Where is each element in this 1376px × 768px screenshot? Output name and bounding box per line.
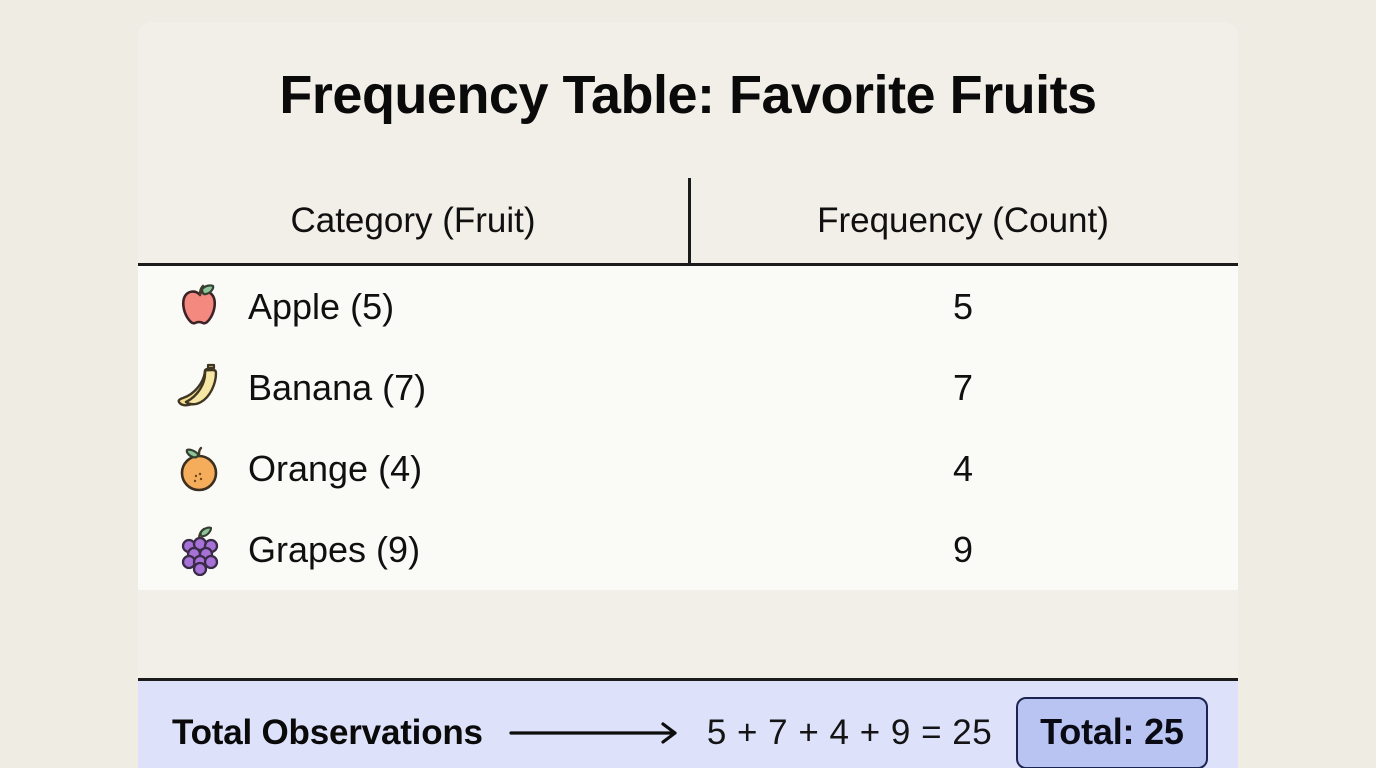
orange-icon <box>170 440 228 498</box>
frequency-table-card: Frequency Table: Favorite Fruits Categor… <box>138 22 1238 698</box>
table-row: Apple (5) 5 <box>138 266 1238 347</box>
total-expression: 5 + 7 + 4 + 9 = 25 <box>707 713 992 753</box>
cell-category: Apple (5) <box>138 278 688 336</box>
grapes-icon <box>170 521 228 579</box>
cell-frequency: 4 <box>688 448 1238 490</box>
table-row: Banana (7) 7 <box>138 347 1238 428</box>
banana-icon <box>170 359 228 417</box>
frequency-table: Category (Fruit) Frequency (Count) <box>138 178 1238 263</box>
total-observations-row: Total Observations 5 + 7 + 4 + 9 = 25 To… <box>138 678 1238 768</box>
column-header-frequency: Frequency (Count) <box>688 201 1238 241</box>
category-label: Apple (5) <box>248 286 394 328</box>
cell-frequency: 7 <box>688 367 1238 409</box>
cell-category: Orange (4) <box>138 440 688 498</box>
cell-frequency: 9 <box>688 529 1238 571</box>
total-label: Total Observations <box>172 713 483 753</box>
category-label: Orange (4) <box>248 448 422 490</box>
screenshot-stage: Frequency Table: Favorite Fruits Categor… <box>0 0 1376 768</box>
category-label: Banana (7) <box>248 367 426 409</box>
cell-category: Banana (7) <box>138 359 688 417</box>
arrow-right-icon <box>509 720 685 746</box>
column-header-category: Category (Fruit) <box>138 201 688 241</box>
apple-icon <box>170 278 228 336</box>
cell-frequency: 5 <box>688 286 1238 328</box>
cell-category: Grapes (9) <box>138 521 688 579</box>
total-badge: Total: 25 <box>1016 697 1208 768</box>
category-label: Grapes (9) <box>248 529 420 571</box>
table-row: Grapes (9) 9 <box>138 509 1238 590</box>
table-body: Apple (5) 5 Banana (7) <box>138 266 1238 590</box>
page-title: Frequency Table: Favorite Fruits <box>138 64 1238 126</box>
table-row: Orange (4) 4 <box>138 428 1238 509</box>
